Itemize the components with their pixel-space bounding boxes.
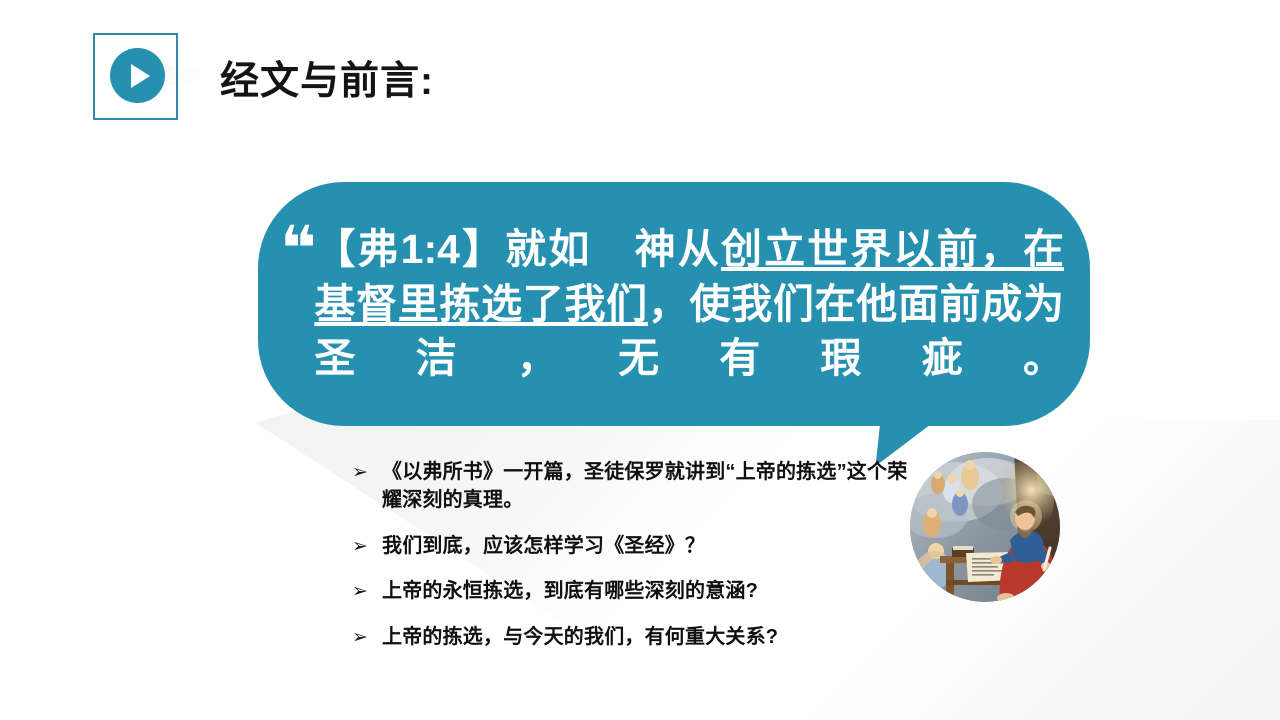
list-item-label: 上帝的永恒拣选，到底有哪些深刻的意涵? (382, 577, 912, 605)
list-item-label: 我们到底，应该怎样学习《圣经》？ (382, 532, 912, 560)
arrow-bullet-icon: ➢ (352, 577, 382, 605)
painting-illustration (910, 452, 1060, 602)
bullet-list: ➢ 《以弗所书》一开篇，圣徒保罗就讲到“上帝的拣选”这个荣耀深刻的真理。 ➢ 我… (352, 458, 912, 651)
quote-reference: 【弗1:4】 (314, 226, 505, 272)
quote-mark-icon: ❝ (280, 218, 312, 280)
list-item-label: 《以弗所书》一开篇，圣徒保罗就讲到“上帝的拣选”这个荣耀深刻的真理。 (382, 458, 912, 515)
arrow-bullet-icon: ➢ (352, 458, 382, 486)
quote-lead: 就如 神从 (505, 226, 721, 272)
scripture-quote-bubble: ❝ 【弗1:4】就如 神从创立世界以前，在基督里拣选了我们，使我们在他面前成为圣… (258, 182, 1090, 426)
play-triangle-icon (131, 64, 150, 88)
slide: 经文与前言: ❝ 【弗1:4】就如 神从创立世界以前，在基督里拣选了我们，使我们… (0, 0, 1280, 720)
scripture-quote-text: 【弗1:4】就如 神从创立世界以前，在基督里拣选了我们，使我们在他面前成为圣洁，… (314, 222, 1064, 386)
page-title: 经文与前言: (220, 50, 434, 106)
slide-header: 经文与前言: (0, 0, 1280, 150)
apostle-paul-writing-painting (910, 452, 1060, 602)
play-icon[interactable] (110, 48, 165, 103)
list-item-label: 上帝的拣选，与今天的我们，有何重大关系? (382, 623, 912, 651)
list-item: ➢ 上帝的永恒拣选，到底有哪些深刻的意涵? (352, 577, 912, 605)
list-item: ➢ 我们到底，应该怎样学习《圣经》？ (352, 532, 912, 560)
list-item: ➢ 《以弗所书》一开篇，圣徒保罗就讲到“上帝的拣选”这个荣耀深刻的真理。 (352, 458, 912, 515)
arrow-bullet-icon: ➢ (352, 623, 382, 651)
arrow-bullet-icon: ➢ (352, 532, 382, 560)
list-item: ➢ 上帝的拣选，与今天的我们，有何重大关系? (352, 623, 912, 651)
